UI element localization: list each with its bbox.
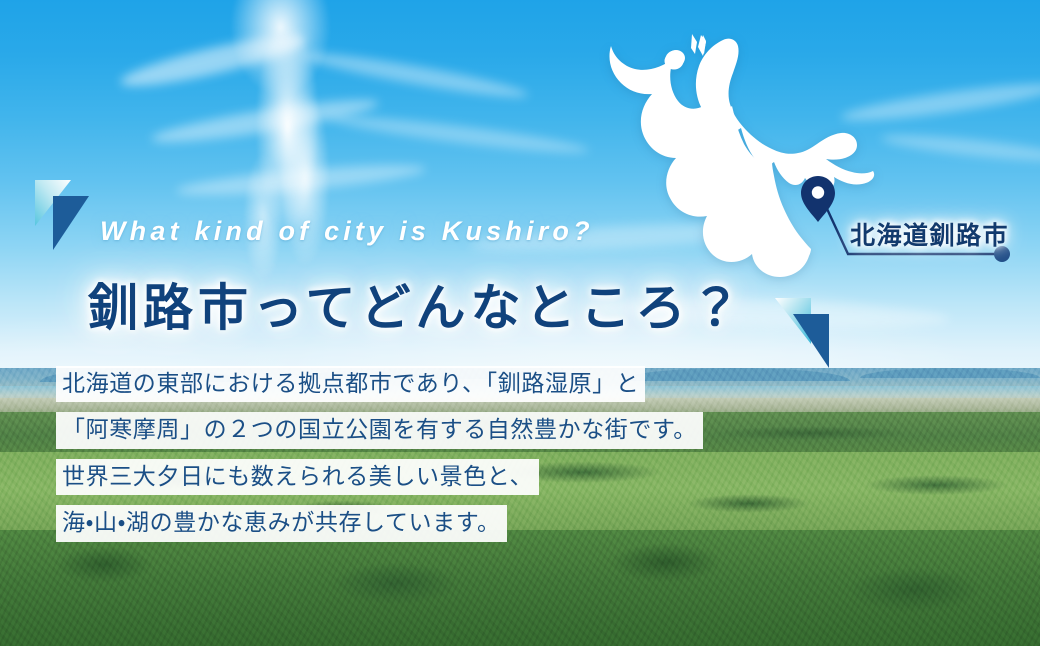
decorative-arrow-right (775, 296, 831, 370)
body-copy-line: 北海道の東部における拠点都市であり、「釧路湿原」と (56, 366, 645, 402)
kushiro-banner: 北海道釧路市 (0, 0, 1040, 646)
headline-japanese: 釧路市ってどんなところ？ (88, 268, 746, 340)
body-copy-line: 世界三大夕日にも数えられる美しい景色と、 (56, 459, 539, 495)
map-location-label: 北海道釧路市 (850, 216, 1009, 252)
decorative-arrow-right-icon (775, 296, 831, 370)
headline-english: What kind of city is Kushiro? (100, 216, 594, 247)
body-copy-block: 北海道の東部における拠点都市であり、「釧路湿原」と 「阿寒摩周」の２つの国立公園… (56, 366, 703, 542)
body-copy-line: 「阿寒摩周」の２つの国立公園を有する自然豊かな街です。 (56, 412, 703, 448)
body-copy-line: 海・山・湖の豊かな恵みが共存しています。 (56, 505, 507, 541)
decorative-arrow-left-icon (33, 178, 89, 252)
decorative-arrow-left (33, 178, 89, 252)
